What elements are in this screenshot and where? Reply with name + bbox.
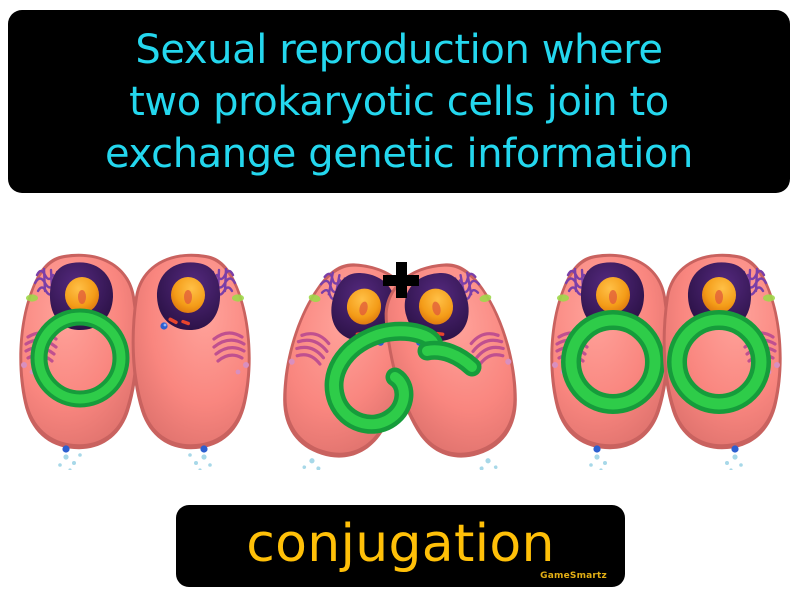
lysosome bbox=[557, 294, 569, 301]
lysosome bbox=[763, 294, 775, 301]
vesicle bbox=[774, 362, 780, 368]
nucleolus-core bbox=[78, 290, 86, 304]
vesicle bbox=[593, 445, 600, 452]
lysosome bbox=[232, 294, 244, 301]
vesicle bbox=[236, 370, 241, 375]
cell-transconjugant-right bbox=[663, 254, 782, 470]
flagella-droplets bbox=[58, 453, 82, 470]
nucleolus-core bbox=[609, 290, 617, 304]
panel-after-conjugation bbox=[533, 225, 799, 470]
cell-recipient-right bbox=[132, 254, 251, 470]
nucleolus-core bbox=[715, 290, 723, 304]
term-text: conjugation bbox=[246, 518, 555, 570]
vesicle bbox=[21, 362, 27, 368]
flagella-droplets bbox=[478, 456, 499, 470]
panel-after-graphic bbox=[533, 225, 799, 470]
flagella-droplets bbox=[589, 454, 607, 470]
definition-text: Sexual reproduction where two prokaryoti… bbox=[105, 24, 693, 180]
nucleolus-core bbox=[184, 290, 192, 304]
lysosome bbox=[26, 294, 38, 301]
vesicle bbox=[243, 362, 249, 368]
plus-icon bbox=[383, 262, 419, 298]
watermark: GameSmartz bbox=[540, 571, 607, 581]
vesicle bbox=[552, 362, 558, 368]
panel-before-conjugation bbox=[2, 225, 268, 470]
flagella-droplets bbox=[188, 453, 212, 470]
vesicle bbox=[731, 445, 738, 452]
flagella-droplets bbox=[725, 454, 743, 470]
cell-donor-left bbox=[19, 254, 138, 470]
term-label: conjugation GameSmartz bbox=[176, 505, 625, 587]
flagella-droplets bbox=[301, 456, 322, 470]
panel-before-graphic bbox=[2, 225, 268, 470]
definition-banner: Sexual reproduction where two prokaryoti… bbox=[8, 10, 790, 193]
cell-transconjugant-left bbox=[550, 254, 669, 470]
vesicle bbox=[62, 445, 69, 452]
vesicle bbox=[200, 445, 207, 452]
